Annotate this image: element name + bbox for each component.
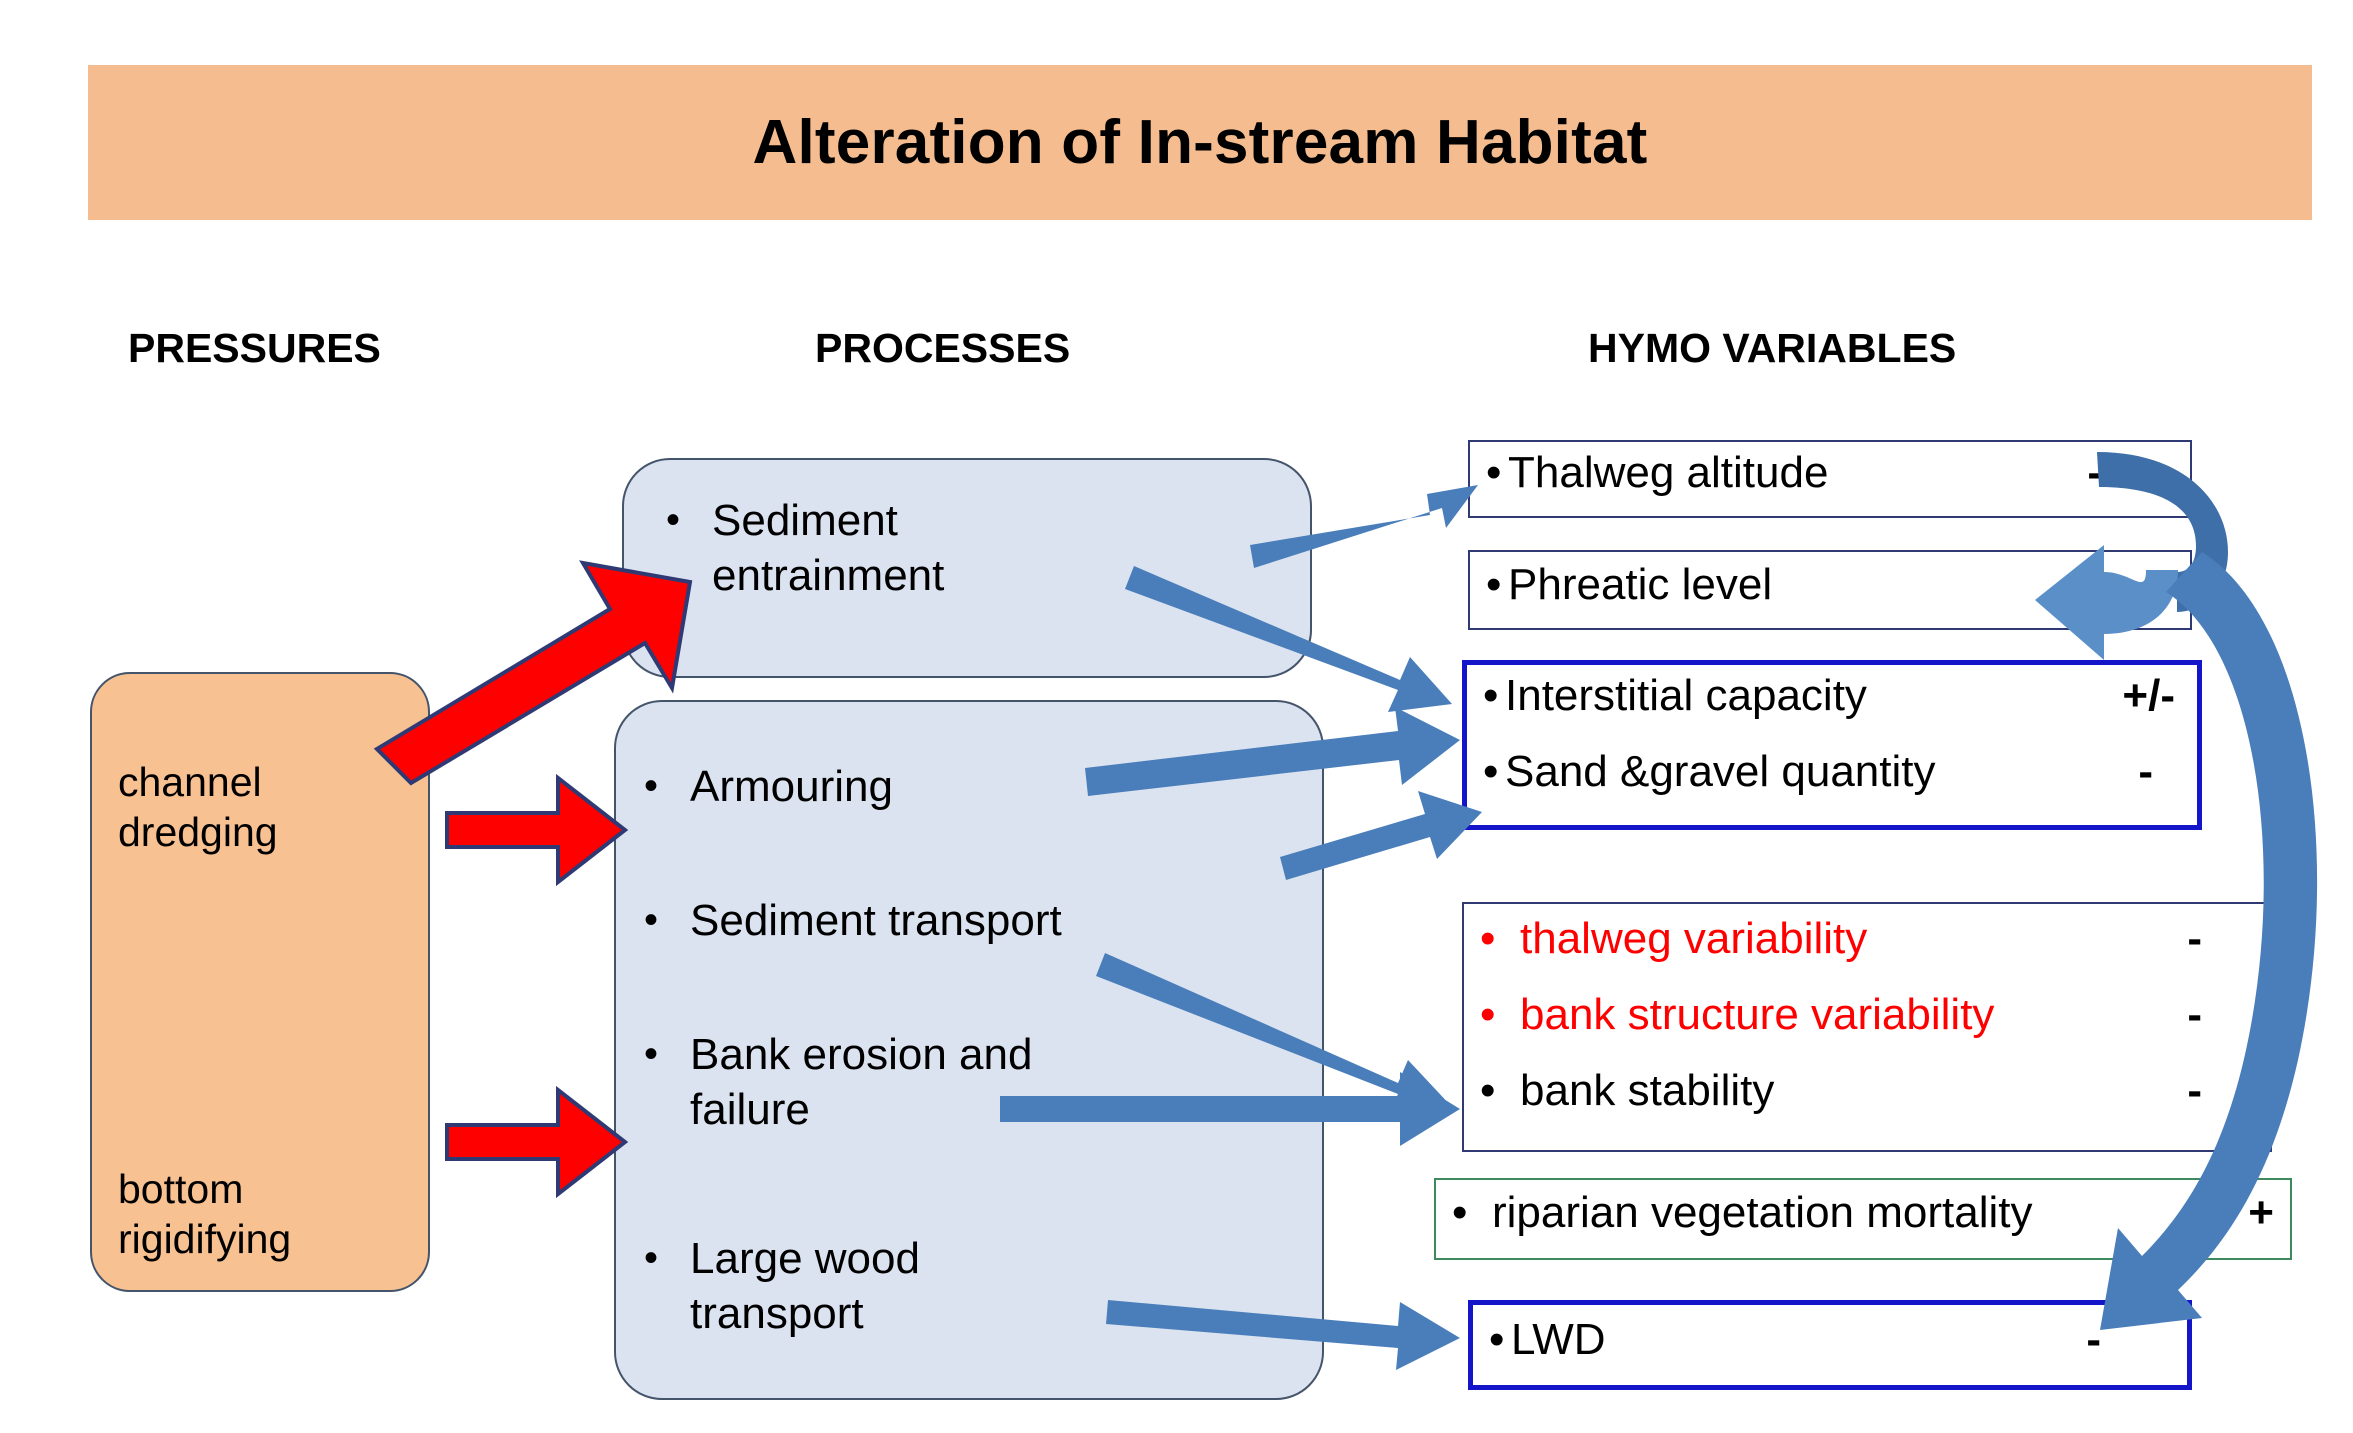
process-item-sediment-entrainment: • Sediment entrainment [666,494,1106,603]
hymo-row: • LWD [1489,1315,2173,1365]
column-header-pressures: PRESSURES [128,325,381,372]
process-label: Armouring [690,760,1164,815]
column-header-hymo-variables: HYMO VARIABLES [1588,325,1956,372]
hymo-sign: - [2187,1066,2202,1116]
pressures-box: channel dredging bottom rigidifying [90,672,430,1292]
bullet-icon: • [644,894,690,946]
hymo-box-lwd: • LWD - [1468,1300,2192,1390]
hymo-label: Sand &gravel quantity [1505,747,1936,797]
process-item-large-wood-transport: • Large wood transport [644,1232,1074,1341]
bullet-icon: • [1489,1315,1511,1365]
hymo-label: bank structure variability [1520,990,1994,1040]
bullet-icon: • [1452,1188,1492,1238]
column-header-processes: PROCESSES [815,325,1070,372]
hymo-box-riparian-vegetation-mortality: • riparian vegetation mortality + [1434,1178,2292,1260]
process-item-sediment-transport: • Sediment transport [644,894,1244,949]
bullet-icon: • [644,1232,690,1284]
pressure-item-bottom-rigidifying: bottom rigidifying [118,1164,418,1264]
pressure-item-channel-dredging: channel dredging [118,757,418,857]
hymo-label: LWD [1511,1315,1606,1365]
hymo-label: Interstitial capacity [1505,671,1867,721]
process-label: Bank erosion and failure [690,1028,1124,1137]
bullet-icon: • [1486,560,1508,610]
hymo-label: riparian vegetation mortality [1492,1188,2032,1238]
hymo-sign: - [2138,747,2153,797]
hymo-box-thalweg-altitude: • Thalweg altitude - [1468,440,2192,518]
process-item-bank-erosion-and-failure: • Bank erosion and failure [644,1028,1124,1137]
hymo-sign: +/- [2122,671,2175,721]
process-box-main: • Armouring • Sediment transport • Bank … [614,700,1324,1400]
bullet-icon: • [1483,671,1505,721]
bullet-icon: • [644,1028,690,1080]
hymo-row: • bank structure variability [1480,990,2256,1040]
hymo-row: • Sand &gravel quantity [1483,747,2183,797]
hymo-box-interstitial-and-sand-gravel: • Interstitial capacity +/- • Sand &grav… [1462,660,2202,830]
hymo-label: thalweg variability [1520,914,1867,964]
hymo-row: • bank stability [1480,1066,2256,1116]
hymo-sign: - [2187,914,2202,964]
hymo-row: • thalweg variability [1480,914,2256,964]
hymo-row: • riparian vegetation mortality [1452,1188,2276,1238]
hymo-sign: - [2079,560,2094,610]
hymo-sign: - [2087,448,2102,498]
red-arrow-channel-dredging-to-processes [447,778,625,882]
hymo-label: bank stability [1520,1066,1774,1116]
process-box-sediment-entrainment: • Sediment entrainment [622,458,1312,678]
hymo-sign: - [2187,990,2202,1040]
process-label: Large wood transport [690,1232,1074,1341]
hymo-row: • Phreatic level [1486,560,2176,610]
bullet-icon: • [1486,448,1508,498]
hymo-box-variability-and-bank-stability: • thalweg variability - • bank structure… [1462,902,2272,1152]
page-title: Alteration of In-stream Habitat [753,107,1648,178]
title-banner: Alteration of In-stream Habitat [88,65,2312,220]
diagram-canvas: Alteration of In-stream Habitat PRESSURE… [0,0,2353,1433]
bullet-icon: • [1480,1066,1520,1116]
bullet-icon: • [1480,914,1520,964]
hymo-box-phreatic-level: • Phreatic level - [1468,550,2192,630]
process-label: Sediment transport [690,894,1244,949]
bullet-icon: • [666,494,712,546]
process-item-armouring: • Armouring [644,760,1164,815]
bullet-icon: • [1480,990,1520,1040]
process-label: Sediment entrainment [712,494,1106,603]
hymo-sign: + [2248,1188,2274,1238]
red-arrow-bottom-rigidifying-to-processes [447,1090,625,1194]
bullet-icon: • [1483,747,1505,797]
hymo-row: • Interstitial capacity [1483,671,2183,721]
hymo-label: Thalweg altitude [1508,448,1828,498]
hymo-label: Phreatic level [1508,560,1772,610]
hymo-sign: - [2086,1315,2101,1365]
bullet-icon: • [644,760,690,812]
hymo-row: • Thalweg altitude [1486,448,2176,498]
